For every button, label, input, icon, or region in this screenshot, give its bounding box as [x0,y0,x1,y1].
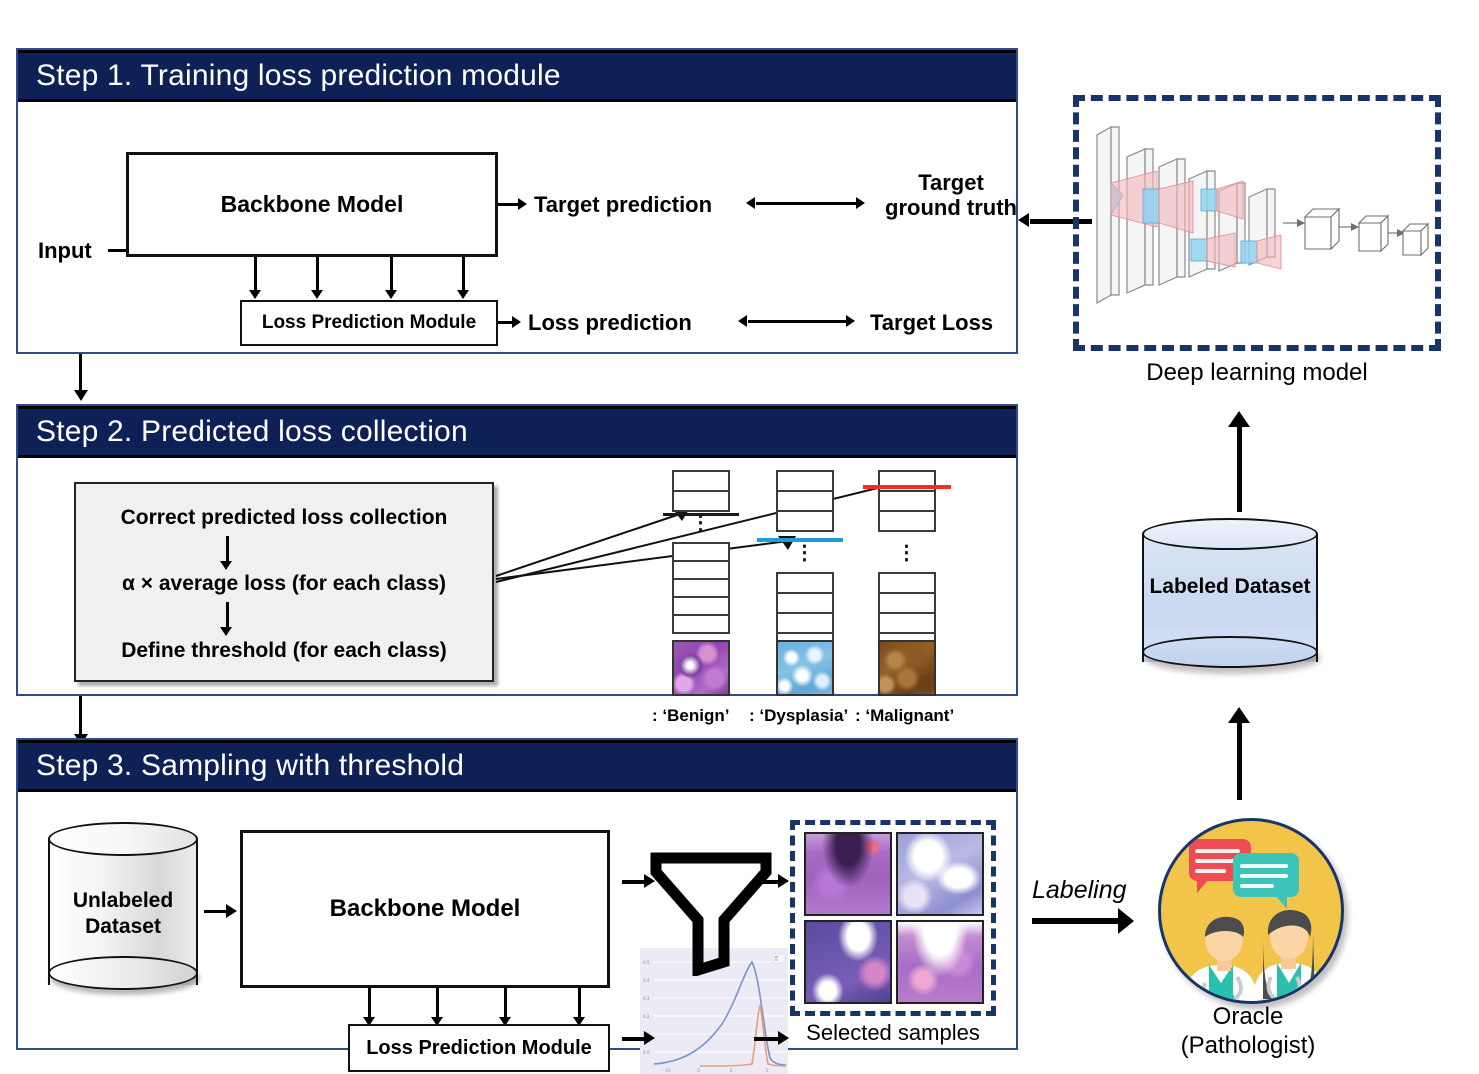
stack-cell [878,490,936,512]
step1-loss-prediction-label: Loss prediction [528,310,692,335]
oracle-to-labeled-head [1228,707,1250,723]
step3-backbone-model-box: Backbone Model [240,830,610,988]
selected-sample-tile-3 [804,920,892,1004]
step1-backbone-label: Backbone Model [221,191,404,218]
stack-cell [672,490,730,512]
step3-body: Unlabeled Dataset Backbone Model Loss Pr… [18,792,1016,1048]
svg-text:0: 0 [730,1068,733,1073]
selected-samples-label: Selected samples [778,1020,1008,1045]
doctor-female-figure [1245,903,1333,1001]
step1-loss-prediction-module-box: Loss Prediction Module [240,300,498,346]
step2-title: Step 2. Predicted loss collection [36,415,468,449]
stack-cell [878,612,936,634]
labeled-dataset-label: Labeled Dataset [1142,574,1318,600]
step1-title: Step 1. Training loss prediction module [36,59,561,93]
stack-dysplasia-top [776,470,834,542]
unlabeled-to-backbone-head [226,904,237,918]
labeled-to-dlm-head [1228,411,1250,427]
lpm-out-head [512,316,521,328]
backbone-to-lpm-head-1 [249,290,261,299]
benign-ellipsis: ⋮ [672,520,730,527]
step1-target-ground-truth-label: Target ground truth [866,170,1036,221]
step2-panel: Step 2. Predicted loss collection Correc… [16,404,1018,696]
stack-cell [776,572,834,594]
backbone-out-line [498,203,520,206]
step3-backbone-to-lpm-line-1 [368,988,371,1020]
labeled-cylinder-top [1142,518,1318,550]
step1-input-label: Input [38,238,92,263]
step2-to-step3-line [79,696,82,738]
oracle-to-labeled-line [1237,718,1242,800]
lp-tl-head-right [846,315,855,327]
step1-lpm-label: Loss Prediction Module [262,312,476,334]
step2-header: Step 2. Predicted loss collection [18,406,1016,458]
labeled-cylinder-bottom [1142,636,1318,668]
threshold-fan-lines [18,458,1020,698]
density-to-samples-line [754,1037,780,1041]
selected-sample-tile-2 [896,832,984,916]
step1-to-step2-head [74,390,88,401]
lp-tl-line [748,320,848,323]
step1-target-loss-label: Target Loss [870,310,993,335]
step1-panel: Step 1. Training loss prediction module … [16,48,1018,354]
step3-loss-prediction-module-box: Loss Prediction Module [348,1024,610,1072]
svg-text:0.4: 0.4 [643,978,650,983]
selected-sample-tile-1 [804,832,892,916]
labeled-dataset-cylinder: Labeled Dataset [1142,518,1318,680]
labeling-label: Labeling [1032,876,1127,905]
stack-benign-bottom [672,542,730,632]
lpm-to-density-head [644,1031,655,1045]
svg-text:5: 5 [766,1068,769,1073]
backbone-to-lpm-line-2 [316,257,319,293]
stack-cell [878,572,936,594]
labeling-arrow-head [1118,908,1134,934]
backbone-out-head [518,198,527,210]
backbone-to-lpm-head-3 [385,290,397,299]
lp-tl-head-left [738,315,747,327]
stack-cell [776,490,834,512]
funnel-to-samples-head [778,874,789,888]
labeled-to-dlm-line [1237,422,1242,512]
stack-malignant-top [878,470,936,542]
stack-cell [672,542,730,562]
class-label-malignant: : ‘Malignant’ [855,706,954,726]
step1-body: Input Backbone Model Loss Prediction Mod… [18,102,1016,352]
step1-backbone-model-box: Backbone Model [126,152,498,257]
tp-gt-line [756,202,858,205]
unlabeled-dataset-cylinder: Unlabeled Dataset [48,822,198,1002]
funnel-icon [650,850,772,976]
cylinder-top [48,822,198,856]
step3-backbone-to-lpm-line-3 [504,988,507,1020]
step1-header: Step 1. Training loss prediction module [18,50,1016,102]
dlm-to-step1-head [1018,213,1029,227]
svg-text:0.5: 0.5 [643,960,650,965]
stack-cell [776,612,834,634]
deep-learning-model-illustration [1083,105,1431,341]
unlabeled-dataset-label: Unlabeled Dataset [48,888,198,941]
benign-sample-swatch [672,640,730,696]
stack-cell [878,592,936,614]
deep-learning-model-caption: Deep learning model [1073,358,1441,387]
dysplasia-ellipsis: ⋮ [776,550,834,557]
step1-to-step2-line [79,354,82,394]
svg-text:0.0: 0.0 [643,1050,650,1055]
step2-body: Correct predicted loss collection α × av… [18,458,1016,694]
lpm-to-density-line [622,1037,646,1041]
input-arrow-line [108,249,128,252]
stack-cell [878,510,936,532]
dysplasia-sample-swatch [776,640,834,696]
oracle-caption: Oracle (Pathologist) [1128,1002,1368,1061]
labeling-arrow-line [1032,918,1124,924]
step3-lpm-label: Loss Prediction Module [366,1037,592,1060]
stack-cell [672,470,730,492]
step3-backbone-to-lpm-line-4 [578,988,581,1020]
stack-cell [672,596,730,616]
stack-benign-top [672,470,730,514]
stack-cell [776,470,834,492]
class-label-benign: : ‘Benign’ [652,706,729,726]
step3-backbone-label: Backbone Model [330,895,521,923]
stack-cell [776,592,834,614]
tp-gt-head-right [856,197,865,209]
tp-gt-head-left [746,197,755,209]
step3-panel: Step 3. Sampling with threshold Unlabele… [16,738,1018,1050]
cylinder-bottom [48,956,198,990]
step3-backbone-to-lpm-line-2 [436,988,439,1020]
step3-header: Step 3. Sampling with threshold [18,740,1016,792]
backbone-to-lpm-line-3 [390,257,393,293]
backbone-to-lpm-head-2 [311,290,323,299]
svg-text:-5: -5 [696,1068,700,1073]
malignant-sample-swatch [878,640,936,696]
speech-bubble-teal [1233,853,1299,897]
malignant-ellipsis: ⋮ [878,550,936,557]
step3-title: Step 3. Sampling with threshold [36,749,464,783]
stack-cell [776,510,834,532]
stack-cell [672,560,730,580]
stack-cell [672,614,730,634]
svg-text:0.2: 0.2 [643,1014,650,1019]
stack-cell [672,578,730,598]
oracle-avatar [1158,818,1344,1004]
malignant-threshold-line [863,485,951,489]
backbone-to-lpm-line-4 [462,257,465,293]
step1-target-prediction-label: Target prediction [534,192,712,217]
svg-text:-10: -10 [664,1068,671,1073]
backbone-to-funnel-line [622,880,646,884]
class-label-dysplasia: : ‘Dysplasia’ [749,706,848,726]
backbone-to-lpm-head-4 [457,290,469,299]
backbone-to-lpm-line-1 [254,257,257,293]
speech-bubble-red-tail [1197,879,1209,893]
unlabeled-to-backbone-line [204,910,228,913]
svg-text:0.3: 0.3 [643,996,650,1001]
selected-sample-tile-4 [896,920,984,1004]
